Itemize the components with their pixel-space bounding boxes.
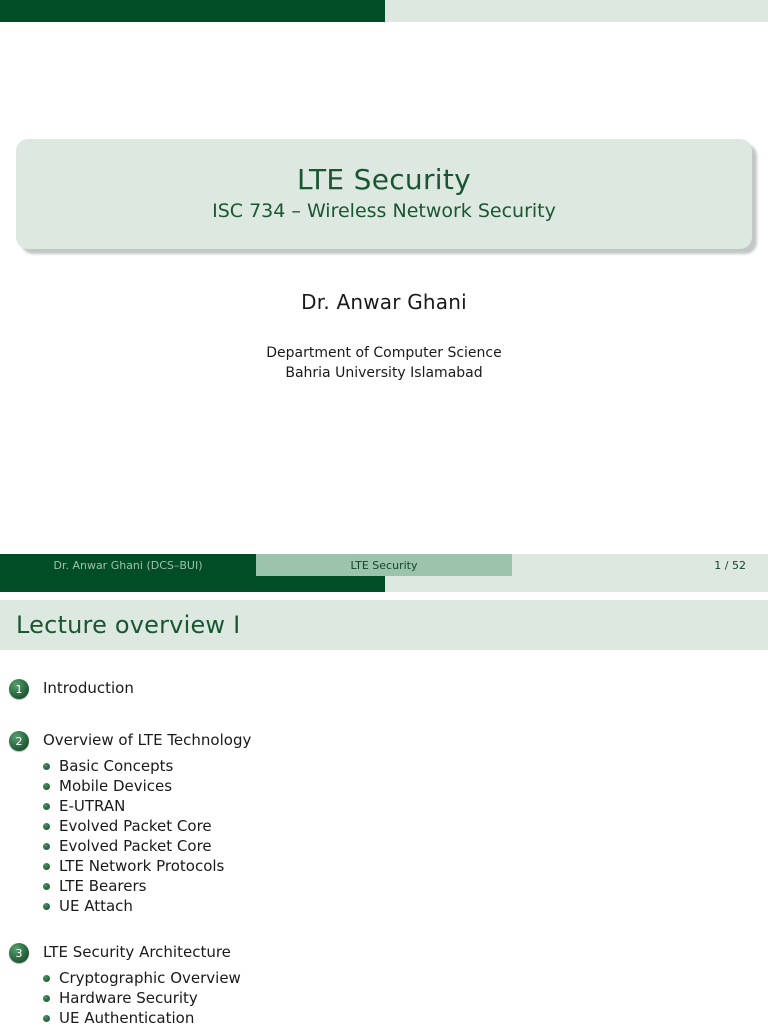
toc-section-label: Introduction [43,678,134,698]
toc-section-label: Overview of LTE Technology [43,730,251,750]
footer-band-light-segment [385,576,768,592]
bullet-dot-icon [43,803,50,810]
slide1-footer-row: Dr. Anwar Ghani (DCS–BUI) LTE Security 1… [0,554,768,576]
bullet-dot-icon [43,763,50,770]
toc-subsection-label: Basic Concepts [59,757,173,775]
page-title: LTE Security [297,165,471,196]
footer-band-dark-segment [0,576,385,592]
toc-subsection-list: Cryptographic Overview Hardware Security… [0,968,768,1028]
list-item[interactable]: E-UTRAN [0,796,768,816]
toc-section: 2 Overview of LTE Technology Basic Conce… [0,730,768,916]
slide1-footer: Dr. Anwar Ghani (DCS–BUI) LTE Security 1… [0,554,768,592]
toc-subsection-label: LTE Network Protocols [59,857,224,875]
toc-section-header[interactable]: 2 Overview of LTE Technology [0,730,768,756]
bullet-dot-icon [43,975,50,982]
toc-section-header[interactable]: 3 LTE Security Architecture [0,942,768,968]
table-of-contents: 1 Introduction 2 Overview of LTE Technol… [0,678,768,1028]
institute-department: Department of Computer Science [0,343,768,363]
bullet-dot-icon [43,843,50,850]
title-slide: LTE Security ISC 734 – Wireless Network … [0,0,768,592]
toc-subsection-label: UE Attach [59,897,133,915]
list-item[interactable]: LTE Network Protocols [0,856,768,876]
list-item[interactable]: Mobile Devices [0,776,768,796]
slide1-footer-band [0,576,768,592]
page-subtitle: ISC 734 – Wireless Network Security [212,200,556,223]
toc-subsection-label: UE Authentication [59,1009,194,1027]
bullet-dot-icon [43,823,50,830]
list-item[interactable]: Hardware Security [0,988,768,1008]
footer-deck-title: LTE Security [256,554,512,576]
bullet-dot-icon [43,903,50,910]
list-item[interactable]: Evolved Packet Core [0,836,768,856]
slide-header-title: Lecture overview I [16,611,240,639]
bullet-dot-icon [43,995,50,1002]
list-item[interactable]: UE Authentication [0,1008,768,1028]
institute-university: Bahria University Islamabad [0,363,768,383]
slide-top-bar [0,0,768,22]
toc-subsection-label: Evolved Packet Core [59,837,212,855]
slide-header-bar: Lecture overview I [0,600,768,650]
toc-subsection-label: Evolved Packet Core [59,817,212,835]
toc-subsection-label: Mobile Devices [59,777,172,795]
toc-spacer [0,704,768,730]
author-name: Dr. Anwar Ghani [0,290,768,314]
toc-section: 3 LTE Security Architecture Cryptographi… [0,942,768,1028]
top-bar-light-segment [385,0,768,22]
toc-section-label: LTE Security Architecture [43,942,231,962]
bullet-dot-icon [43,883,50,890]
section-number-badge: 3 [9,943,29,963]
bullet-dot-icon [43,863,50,870]
lecture-overview-slide: Lecture overview I 1 Introduction 2 Over… [0,592,768,1024]
footer-author: Dr. Anwar Ghani (DCS–BUI) [0,554,256,576]
list-item[interactable]: Evolved Packet Core [0,816,768,836]
footer-page-number: 1 / 52 [512,554,768,576]
toc-section-header[interactable]: 1 Introduction [0,678,768,704]
section-number-badge: 2 [9,731,29,751]
section-number-badge: 1 [9,679,29,699]
title-block: LTE Security ISC 734 – Wireless Network … [16,139,752,249]
toc-subsection-list: Basic Concepts Mobile Devices E-UTRAN Ev… [0,756,768,916]
toc-subsection-label: Hardware Security [59,989,198,1007]
bullet-dot-icon [43,1015,50,1022]
list-item[interactable]: LTE Bearers [0,876,768,896]
title-block-body: LTE Security ISC 734 – Wireless Network … [16,139,752,249]
toc-subsection-label: Cryptographic Overview [59,969,241,987]
toc-section: 1 Introduction [0,678,768,704]
top-bar-dark-segment [0,0,385,22]
list-item[interactable]: Basic Concepts [0,756,768,776]
toc-subsection-label: LTE Bearers [59,877,146,895]
institute-block: Department of Computer Science Bahria Un… [0,343,768,384]
bullet-dot-icon [43,783,50,790]
toc-spacer [0,916,768,942]
list-item[interactable]: UE Attach [0,896,768,916]
toc-subsection-label: E-UTRAN [59,797,125,815]
list-item[interactable]: Cryptographic Overview [0,968,768,988]
